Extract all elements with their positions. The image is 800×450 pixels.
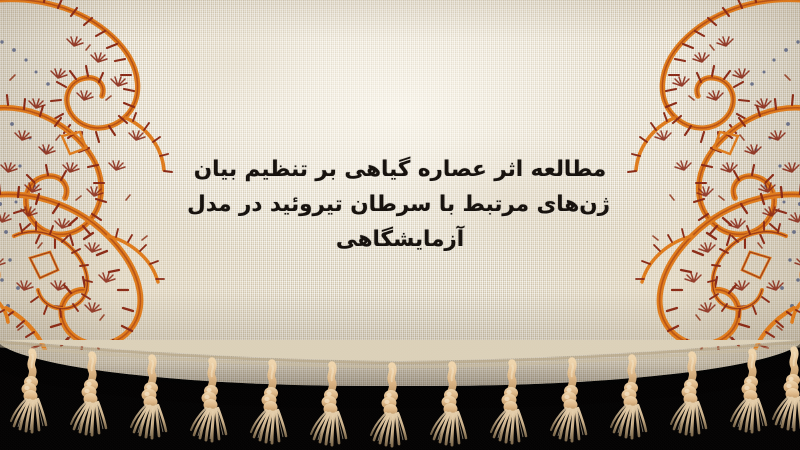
slide-canvas: مطالعه اثر عصاره گیاهی بر تنظیم بیان ژن‌… bbox=[0, 0, 800, 450]
title-line-1: مطالعه اثر عصاره گیاهی بر تنظیم بیان bbox=[190, 152, 610, 187]
presentation-title: مطالعه اثر عصاره گیاهی بر تنظیم بیان ژن‌… bbox=[0, 152, 800, 257]
title-line-2: ژن‌های مرتبط با سرطان تیروئید در مدل bbox=[190, 187, 610, 222]
title-line-3: آزمایشگاهی bbox=[190, 222, 610, 257]
